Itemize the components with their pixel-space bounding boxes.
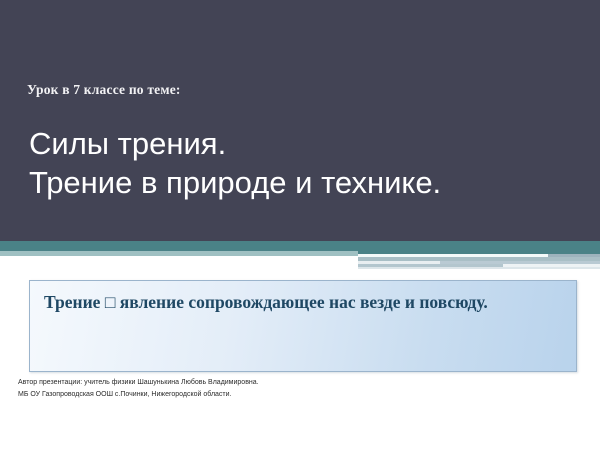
definition-callout-box: Трение □ явление сопровождающее нас везд…	[29, 280, 577, 372]
title-line-1: Силы трения.	[29, 124, 574, 163]
divider-left-shelf	[0, 251, 358, 256]
decorative-divider	[0, 241, 600, 273]
slide-canvas: Урок в 7 классе по теме: Силы трения. Тр…	[0, 0, 600, 450]
divider-stripe-7	[358, 267, 600, 269]
author-credit: Автор презентации: учитель физики Шашунь…	[18, 377, 438, 400]
divider-teal-band	[0, 241, 600, 251]
author-credit-line-1: Автор презентации: учитель физики Шашунь…	[18, 377, 438, 389]
lesson-eyebrow-text: Урок в 7 классе по теме:	[27, 82, 181, 98]
title-panel: Урок в 7 классе по теме: Силы трения. Тр…	[0, 0, 600, 241]
definition-text: Трение □ явление сопровождающее нас везд…	[44, 290, 562, 315]
page-title: Силы трения. Трение в природе и технике.	[29, 124, 574, 202]
author-credit-line-2: МБ ОУ Газопроводская ООШ с.Починки, Ниже…	[18, 389, 438, 401]
title-line-2: Трение в природе и технике.	[29, 163, 574, 202]
